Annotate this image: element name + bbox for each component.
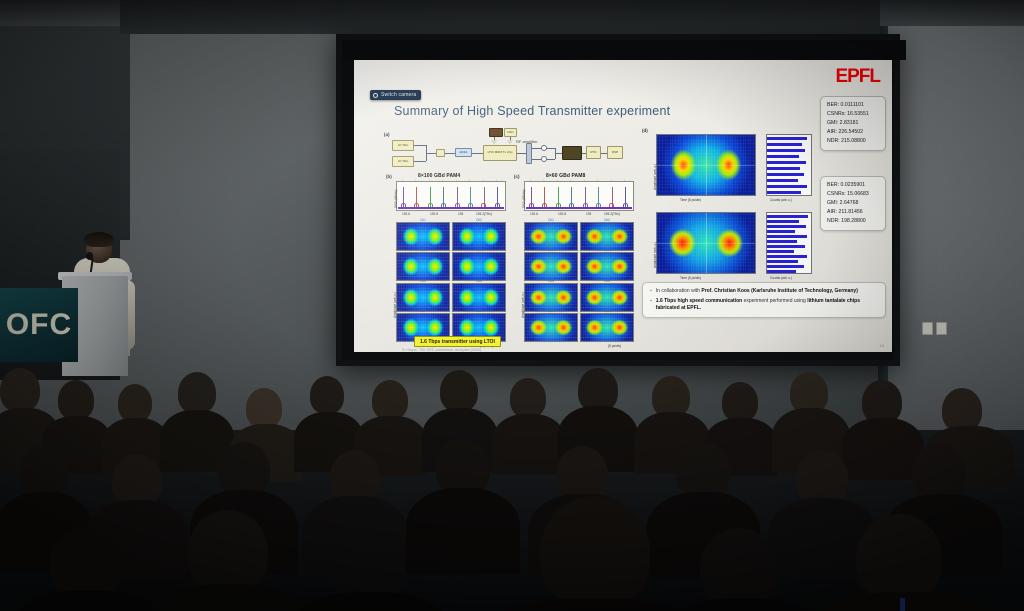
- schematic-block-awg: [489, 128, 503, 137]
- schematic-block-laser-2: LD TEC: [392, 156, 414, 167]
- eye-cell: Ch5: [396, 283, 450, 312]
- audience-head: [20, 446, 68, 498]
- switch-camera-label: Switch camera: [381, 92, 416, 98]
- switch-camera-button[interactable]: Switch camera: [370, 90, 421, 100]
- spectrum-comb-peak: [441, 203, 446, 207]
- bullet-1-pre: In collaboration with: [656, 288, 702, 294]
- speaker-hair: [84, 232, 114, 247]
- audience: [0, 350, 1024, 611]
- large-eye-diagram-pam8: [656, 212, 756, 274]
- spectrum-comb-peak: [455, 203, 460, 207]
- audience-head: [856, 514, 942, 602]
- audience-head: [330, 522, 406, 602]
- large-eye-ylabel-1: Amplitude (arb. u.): [653, 164, 657, 190]
- spectrum-channel-marker: ↓: [610, 178, 612, 183]
- metric-ber: BER: 0.0235901: [827, 181, 879, 190]
- audience-shoulders: [664, 598, 822, 611]
- audience-shoulders: [812, 592, 998, 611]
- schematic-block-laser-1: LD TEC: [392, 140, 414, 151]
- spectrum-xtick-1: 192.8: [430, 212, 438, 216]
- histogram-pam8: [766, 212, 812, 274]
- bullet-1-bold: Prof. Christian Koos (Karlsruhe Institut…: [701, 288, 858, 294]
- bullet-dot: ▪: [650, 298, 652, 312]
- spectrum-xtick-3: 193.2(THz): [476, 212, 492, 216]
- eye-cell: Ch6: [452, 283, 506, 312]
- large-eye-xlabel-2: Time (5 ps/div): [680, 276, 701, 280]
- spectrum-channel-marker: ↓: [543, 178, 545, 183]
- ofc-sign-label: OFC: [6, 308, 72, 342]
- metric-ber: BER: 0.0111101: [827, 101, 879, 110]
- spectrum-channel-marker: ↓: [495, 178, 497, 183]
- bullet-collaboration: ▪ In collaboration with Prof. Christian …: [650, 288, 878, 295]
- panel-a-tag: (a): [384, 132, 390, 137]
- metric-gmi: GMI: 2.83181: [827, 119, 879, 128]
- audience-head: [540, 496, 650, 608]
- schematic-block-wss: [526, 143, 532, 164]
- bullet-dot: ▪: [650, 288, 652, 295]
- large-eye-diagram-pam4: [656, 134, 756, 196]
- histogram-pam4: [766, 134, 812, 196]
- spectrum-comb-peak: [583, 203, 588, 207]
- light-switch-left: [922, 322, 933, 335]
- schematic-block-coupler: [436, 149, 445, 157]
- spectrum-plot-pam8: ↓↓↓↓↓↓↓↓: [524, 181, 634, 211]
- audience-head: [50, 526, 122, 600]
- spectrum-comb-peak: [529, 203, 534, 207]
- slide-page-number: 18: [880, 343, 884, 348]
- metric-air: AIR: 226.54502: [827, 128, 879, 137]
- metric-csnr: CSNRs: 15.06683: [827, 190, 879, 199]
- spectrum-comb-peak: [542, 203, 547, 207]
- eye-cell: Ch1: [524, 222, 578, 251]
- metric-gmi: GMI: 2.64768: [827, 199, 879, 208]
- schematic-block-dsp: DSP: [607, 146, 623, 159]
- spectrum-xtick-3: 193.2(THz): [604, 212, 620, 216]
- audience-head: [310, 376, 344, 414]
- audience-head: [178, 372, 216, 414]
- audience-head: [440, 370, 478, 412]
- panel-b-tag: (b): [386, 174, 392, 179]
- panel-d-tag: (d): [642, 128, 648, 133]
- spectrum-channel-marker: ↓: [401, 178, 403, 183]
- spectrum-channel-marker: ↓: [428, 178, 430, 183]
- lanyard: [900, 598, 905, 611]
- microphone-head: [86, 252, 93, 260]
- audience-head: [246, 388, 282, 428]
- eye-grid-pam8: Ch1 Ch2 Ch3 Ch4 Ch5 Ch6 Ch7 Ch8: [524, 222, 634, 342]
- spectrum-comb-peak: [428, 203, 433, 207]
- spectrum-channel-marker: ↓: [415, 178, 417, 183]
- audience-head: [372, 380, 408, 420]
- eye-cell: Ch2: [452, 222, 506, 251]
- projection-screen: Switch camera EPFL Summary of High Speed…: [336, 34, 900, 366]
- eye-xlabel-pam8: (5 ps/div): [608, 344, 621, 348]
- bullets-card: ▪ In collaboration with Prof. Christian …: [642, 282, 886, 318]
- spectrum-xtick-2: 193: [586, 212, 591, 216]
- ceiling-band: [120, 0, 880, 34]
- eye-cell: Ch3: [396, 252, 450, 281]
- audience-shoulders: [150, 584, 310, 611]
- rf-amp-triangle-2: [507, 140, 513, 145]
- slide-title: Summary of High Speed Transmitter experi…: [394, 104, 670, 118]
- schematic-block-rto: RTO: [586, 146, 601, 159]
- highlight-box: 1.6 Tbps transmitter using LTOI: [414, 336, 501, 347]
- audience-head: [510, 378, 546, 418]
- audience-head: [700, 528, 778, 608]
- schematic-block-pd: [562, 146, 582, 160]
- spectrum-ylabel-pam4: OSA (dB/div): [394, 190, 398, 208]
- audience-head: [0, 368, 40, 412]
- panel-c-heading: 8×60 GBd PAM8: [546, 173, 585, 179]
- histogram-label-1: Counts (arb. u.): [770, 198, 792, 202]
- spectrum-channel-marker: ↓: [482, 178, 484, 183]
- spectrum-channel-marker: ↓: [583, 178, 585, 183]
- screen-top-bezel: [342, 40, 906, 60]
- spectrum-plot-pam4: ↓↓↓↓↓↓↓↓: [396, 181, 506, 211]
- camera-icon: [373, 93, 378, 98]
- audience-shoulders: [488, 598, 702, 611]
- spectrum-channel-marker: ↓: [442, 178, 444, 183]
- eye-ylabel-pam4: Amplitude (arb. u.): [393, 292, 397, 318]
- spectrum-xtick-0: 192.6: [530, 212, 538, 216]
- epfl-logo: EPFL: [835, 66, 880, 88]
- panel-b-pam4: (b) 8×100 GBd PAM4 ↓↓↓↓↓↓↓↓ OSA (dB/div)…: [388, 178, 508, 330]
- spectrum-comb-peak: [468, 203, 473, 207]
- metric-ndr: NDR: 198.28800: [827, 217, 879, 226]
- spectrum-comb-peak: [609, 203, 614, 207]
- eye-cell: Ch8: [580, 313, 634, 342]
- presentation-slide: Switch camera EPFL Summary of High Speed…: [354, 60, 892, 352]
- spectrum-channel-marker: ↓: [455, 178, 457, 183]
- metric-air: AIR: 211.81456: [827, 208, 879, 217]
- schematic-block-edfa: EDFA: [455, 148, 472, 157]
- spectrum-comb-peak: [414, 203, 419, 207]
- eye-grid-pam4: Ch1 Ch2 Ch3 Ch4 Ch5 Ch6 Ch7 Ch8: [396, 222, 506, 342]
- panel-c-pam8: (c) 8×60 GBd PAM8 ↓↓↓↓↓↓↓↓ OSA (dB/div) …: [516, 178, 636, 330]
- spectrum-channel-marker: ↓: [469, 178, 471, 183]
- audience-head: [118, 384, 152, 422]
- rf-amp-triangle-1: [491, 140, 497, 145]
- eye-cell: Ch4: [580, 252, 634, 281]
- spectrum-comb-peak: [495, 203, 500, 207]
- spectrum-xtick-1: 192.8: [558, 212, 566, 216]
- spectrum-channel-marker: ↓: [623, 178, 625, 183]
- metrics-card-pam8: BER: 0.0235901 CSNRs: 15.06683 GMI: 2.64…: [820, 176, 886, 231]
- eye-cell: Ch4: [452, 252, 506, 281]
- large-eye-ylabel-2: Amplitude (arb. u.): [653, 242, 657, 268]
- eye-cell: Ch6: [580, 283, 634, 312]
- audience-shoulders: [292, 592, 448, 611]
- eye-cell: Ch7: [524, 313, 578, 342]
- metric-ndr: NDR: 215.08800: [827, 137, 879, 146]
- spectrum-comb-peak: [401, 203, 406, 207]
- conference-room-photo: Switch camera EPFL Summary of High Speed…: [0, 0, 1024, 611]
- bullet-result: ▪ 1.6 Tbps high speed communication expe…: [650, 298, 878, 312]
- audience-head: [188, 510, 268, 594]
- metric-csnr: CSNRs: 16.53551: [827, 110, 879, 119]
- spectrum-ylabel-pam8: OSA (dB/div): [522, 190, 526, 208]
- spectrum-comb-peak: [569, 203, 574, 207]
- eye-cell: Ch5: [524, 283, 578, 312]
- spectrum-comb-peak: [481, 203, 486, 207]
- schematic-block-ltoi-chip: LTOI MRM Tx chip: [483, 145, 517, 161]
- audience-shoulders: [14, 590, 164, 611]
- bullet-2-post: experiment performed using: [742, 298, 807, 304]
- histogram-label-2: Counts (arb. u.): [770, 276, 792, 280]
- eye-cell: Ch2: [580, 222, 634, 251]
- audience-shoulders: [406, 488, 520, 574]
- panel-b-heading: 8×100 GBd PAM4: [418, 173, 460, 179]
- spectrum-channel-marker: ↓: [529, 178, 531, 183]
- spectrum-comb-peak: [623, 203, 628, 207]
- large-eye-xlabel-1: Time (5 ps/div): [680, 198, 701, 202]
- spectrum-comb-peak: [556, 203, 561, 207]
- spectrum-channel-marker: ↓: [597, 178, 599, 183]
- bullet-2-bold: 1.6 Tbps high speed communication: [656, 298, 742, 304]
- metrics-card-pam4: BER: 0.0111101 CSNRs: 16.53551 GMI: 2.83…: [820, 96, 886, 151]
- eye-ylabel-pam8: Amplitude (arb. u.): [521, 292, 525, 318]
- audience-head: [722, 382, 758, 422]
- audience-head: [58, 380, 94, 420]
- spectrum-xtick-2: 193: [458, 212, 463, 216]
- spectrum-xtick-0: 192.6: [402, 212, 410, 216]
- light-switch-right: [936, 322, 947, 335]
- transmitter-schematic: (a) LD TEC LD TEC EDFA LTOI MRM Tx chip …: [392, 132, 642, 174]
- audience-shoulders: [492, 414, 566, 474]
- spectrum-channel-marker: ↓: [570, 178, 572, 183]
- panel-d-large-eyes: (d) Amplitude (arb. u.) Time (5 ps/div): [644, 132, 819, 297]
- panel-c-tag: (c): [514, 174, 520, 179]
- schematic-block-dac: DAC: [504, 128, 517, 137]
- spectrum-comb-peak: [596, 203, 601, 207]
- eye-cell: Ch1: [396, 222, 450, 251]
- spectrum-channel-marker: ↓: [556, 178, 558, 183]
- eye-cell: Ch3: [524, 252, 578, 281]
